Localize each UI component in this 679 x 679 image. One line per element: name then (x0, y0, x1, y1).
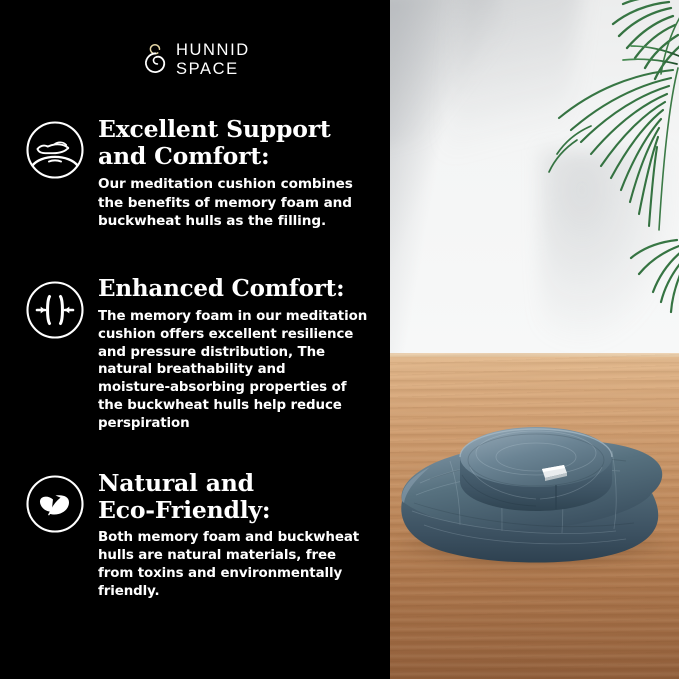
feature-body: The memory foam in our meditation cushio… (98, 308, 380, 433)
feature-text: Natural and Eco-Friendly: Both memory fo… (92, 470, 380, 600)
brand-line-1: HUNNID (176, 42, 250, 59)
hand-support-icon (25, 120, 85, 180)
feature-body: Our meditation cushion combines the bene… (98, 175, 380, 230)
product-infographic: HUNNID SPACE Excellent Support and Comfo… (0, 0, 679, 679)
feature-text: Enhanced Comfort: The memory foam in our… (92, 276, 380, 433)
meditation-cushion-set (390, 353, 679, 603)
feature-body: Both memory foam and buckwheat hulls are… (98, 529, 380, 600)
feature-title: Enhanced Comfort: (98, 276, 380, 302)
feature-title: Excellent Support and Comfort: (98, 116, 380, 169)
brand-wordmark: HUNNID SPACE (176, 42, 250, 77)
brand-line-2: SPACE (176, 61, 250, 78)
feature-icon-wrap (18, 470, 92, 534)
feature-icon-wrap (18, 276, 92, 340)
feature-icon-wrap (18, 116, 92, 180)
feature-block-support: Excellent Support and Comfort: Our medit… (18, 116, 380, 231)
brand-logo: HUNNID SPACE (143, 42, 250, 77)
feature-title: Natural and Eco-Friendly: (98, 470, 380, 523)
compression-resilience-icon (25, 280, 85, 340)
zafu-top-face (460, 427, 612, 487)
feature-block-eco-friendly: Natural and Eco-Friendly: Both memory fo… (18, 470, 380, 600)
info-panel: HUNNID SPACE Excellent Support and Comfo… (0, 0, 390, 679)
feature-text: Excellent Support and Comfort: Our medit… (92, 116, 380, 231)
feature-block-enhanced-comfort: Enhanced Comfort: The memory foam in our… (18, 276, 380, 433)
spiral-logo-icon (143, 43, 169, 77)
leaf-eco-icon (25, 474, 85, 534)
palm-plant-icon (473, 0, 679, 314)
cushion-illustration (390, 353, 679, 603)
product-photo (390, 0, 679, 679)
